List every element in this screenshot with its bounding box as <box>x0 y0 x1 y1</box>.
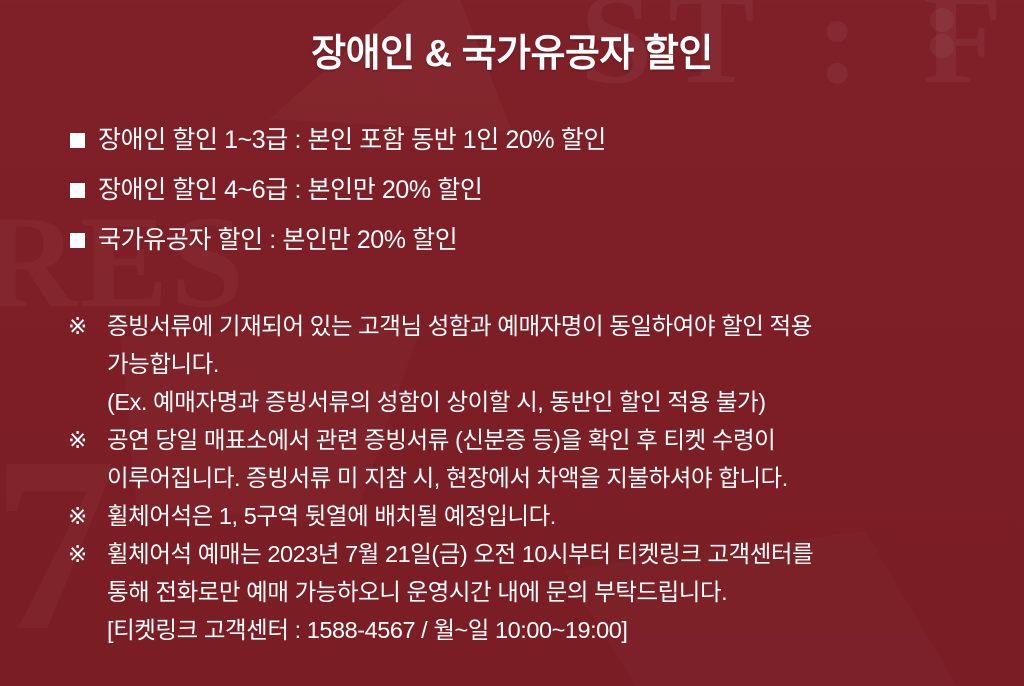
list-item: 국가유공자 할인 : 본인만 20% 할인 <box>70 224 970 274</box>
notice-content: 장애인 & 국가유공자 할인 장애인 할인 1~3급 : 본인 포함 동반 1인… <box>0 0 1024 686</box>
note-item: ※ 휠체어석 예매는 2023년 7월 21일(금) 오전 10시부터 티켓링크… <box>68 535 988 649</box>
page-title: 장애인 & 국가유공자 할인 <box>0 22 1024 77</box>
discount-notice-page: ST : F RES 7 장애인 & 국가유공자 할인 장애인 할인 1~3급 … <box>0 0 1024 686</box>
note-line: 증빙서류에 기재되어 있는 고객님 성함과 예매자명이 동일하여야 할인 적용 <box>107 307 988 345</box>
note-line: 휠체어석은 1, 5구역 뒷열에 배치될 예정입니다. <box>107 497 988 535</box>
square-bullet-icon <box>70 133 85 148</box>
note-line: 가능합니다. <box>107 345 988 383</box>
discount-bullet-list: 장애인 할인 1~3급 : 본인 포함 동반 1인 20% 할인 장애인 할인 … <box>70 124 970 274</box>
note-body: 휠체어석 예매는 2023년 7월 21일(금) 오전 10시부터 티켓링크 고… <box>107 535 988 649</box>
bullet-item-label: 국가유공자 할인 : 본인만 20% 할인 <box>98 224 970 258</box>
customer-center-contact-line: [티켓링크 고객센터 : 1588-4567 / 월~일 10:00~19:00… <box>107 611 988 649</box>
bullet-item-label: 장애인 할인 4~6급 : 본인만 20% 할인 <box>98 174 970 208</box>
note-item: ※ 증빙서류에 기재되어 있는 고객님 성함과 예매자명이 동일하여야 할인 적… <box>68 307 988 421</box>
note-body: 증빙서류에 기재되어 있는 고객님 성함과 예매자명이 동일하여야 할인 적용 … <box>107 307 988 421</box>
list-item: 장애인 할인 1~3급 : 본인 포함 동반 1인 20% 할인 <box>70 124 970 174</box>
notice-notes-block: ※ 증빙서류에 기재되어 있는 고객님 성함과 예매자명이 동일하여야 할인 적… <box>68 307 988 649</box>
note-line: 휠체어석 예매는 2023년 7월 21일(금) 오전 10시부터 티켓링크 고… <box>107 535 988 573</box>
square-bullet-icon <box>70 183 85 198</box>
note-line: 이루어집니다. 증빙서류 미 지참 시, 현장에서 차액을 지불하셔야 합니다. <box>107 459 988 497</box>
note-item: ※ 공연 당일 매표소에서 관련 증빙서류 (신분증 등)을 확인 후 티켓 수… <box>68 421 988 497</box>
note-line: (Ex. 예매자명과 증빙서류의 성함이 상이할 시, 동반인 할인 적용 불가… <box>107 383 988 421</box>
reference-mark-icon: ※ <box>68 421 107 459</box>
reference-mark-icon: ※ <box>68 535 107 573</box>
reference-mark-icon: ※ <box>68 307 107 345</box>
note-line: 통해 전화로만 예매 가능하오니 운영시간 내에 문의 부탁드립니다. <box>107 573 988 611</box>
note-line: 공연 당일 매표소에서 관련 증빙서류 (신분증 등)을 확인 후 티켓 수령이 <box>107 421 988 459</box>
square-bullet-icon <box>70 233 85 248</box>
reference-mark-icon: ※ <box>68 497 107 535</box>
list-item: 장애인 할인 4~6급 : 본인만 20% 할인 <box>70 174 970 224</box>
note-item: ※ 휠체어석은 1, 5구역 뒷열에 배치될 예정입니다. <box>68 497 988 535</box>
note-body: 휠체어석은 1, 5구역 뒷열에 배치될 예정입니다. <box>107 497 988 535</box>
note-body: 공연 당일 매표소에서 관련 증빙서류 (신분증 등)을 확인 후 티켓 수령이… <box>107 421 988 497</box>
bullet-item-label: 장애인 할인 1~3급 : 본인 포함 동반 1인 20% 할인 <box>98 124 970 158</box>
